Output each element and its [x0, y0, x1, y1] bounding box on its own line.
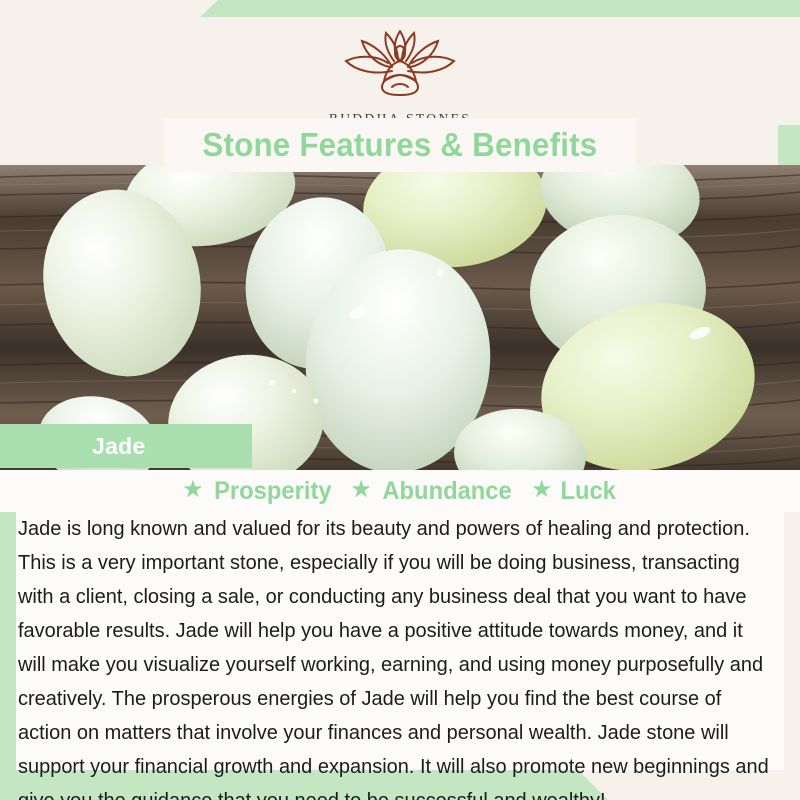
description-text: Jade is long known and valued for its be…	[18, 512, 774, 800]
stone-name-label: Jade	[92, 433, 146, 460]
benefit-label: Prosperity	[214, 477, 331, 506]
star-icon: ★	[350, 478, 372, 502]
brand-header: BUDDHA STONES	[0, 17, 800, 125]
decorative-top-green-band	[0, 0, 800, 17]
benefit-item-luck: ★ Luck	[531, 477, 618, 506]
stone-name-chip: Jade	[0, 424, 252, 468]
benefit-label: Luck	[561, 477, 616, 506]
stone-benefits-poster: BUDDHA STONES Stone Features & Benefits	[0, 0, 800, 800]
benefit-label: Abundance	[382, 477, 511, 506]
benefit-item-prosperity: ★ Prosperity	[182, 477, 334, 506]
page-title-plate: Stone Features & Benefits	[164, 118, 636, 172]
benefit-item-abundance: ★ Abundance	[350, 477, 515, 506]
star-icon: ★	[182, 478, 204, 502]
benefits-row: ★ Prosperity ★ Abundance ★ Luck	[0, 470, 800, 512]
star-icon: ★	[531, 478, 553, 502]
lotus-meditation-icon	[330, 27, 470, 108]
page-title: Stone Features & Benefits	[203, 126, 598, 164]
